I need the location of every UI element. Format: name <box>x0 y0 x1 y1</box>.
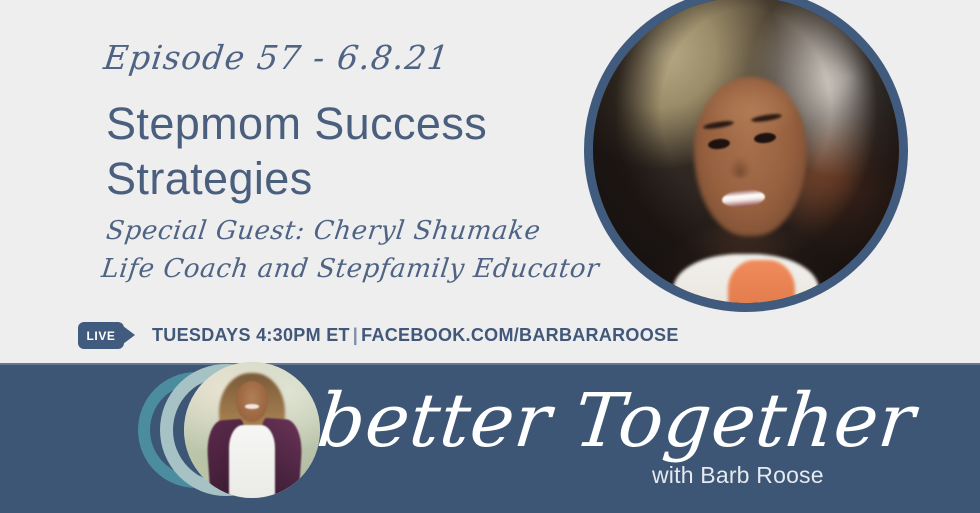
guest-role-line: Life Coach and Stepfamily Educator <box>99 250 601 288</box>
guest-nose <box>729 156 750 177</box>
brand-byline: with Barb Roose <box>652 462 824 489</box>
live-url: FACEBOOK.COM/BARBARAROOSE <box>361 325 679 345</box>
guest-photo <box>584 0 908 312</box>
title-line-1: Stepmom Success <box>106 98 487 149</box>
live-schedule-text: TUESDAYS 4:30PM ET|FACEBOOK.COM/BARBARAR… <box>152 325 679 346</box>
brand-wordmark: better Together <box>314 382 919 460</box>
page-title: Stepmom Success Strategies <box>106 96 576 206</box>
live-separator: | <box>350 325 361 345</box>
host-avatar <box>184 362 320 498</box>
video-camera-lens-icon <box>123 326 135 344</box>
guest-photo-inner <box>593 0 899 303</box>
guest-credit: Special Guest: Cheryl Shumake Life Coach… <box>99 212 606 288</box>
promo-graphic: Episode 57 - 6.8.21 Stepmom Success Stra… <box>0 0 980 513</box>
upper-section: Episode 57 - 6.8.21 Stepmom Success Stra… <box>0 0 980 363</box>
live-video-icon: LIVE <box>78 322 124 349</box>
live-info-bar: LIVE TUESDAYS 4:30PM ET|FACEBOOK.COM/BAR… <box>78 322 679 349</box>
guest-name-line: Special Guest: Cheryl Shumake <box>104 212 606 250</box>
live-badge-label: LIVE <box>86 330 115 342</box>
host-smile <box>245 404 259 409</box>
guest-forehead <box>703 80 798 141</box>
host-blouse <box>229 425 275 498</box>
episode-line: Episode 57 - 6.8.21 <box>102 38 452 77</box>
guest-scarf <box>728 260 795 303</box>
live-schedule: TUESDAYS 4:30PM ET <box>152 325 350 345</box>
title-line-2: Strategies <box>106 151 576 206</box>
brand-logo-mark <box>138 364 318 509</box>
